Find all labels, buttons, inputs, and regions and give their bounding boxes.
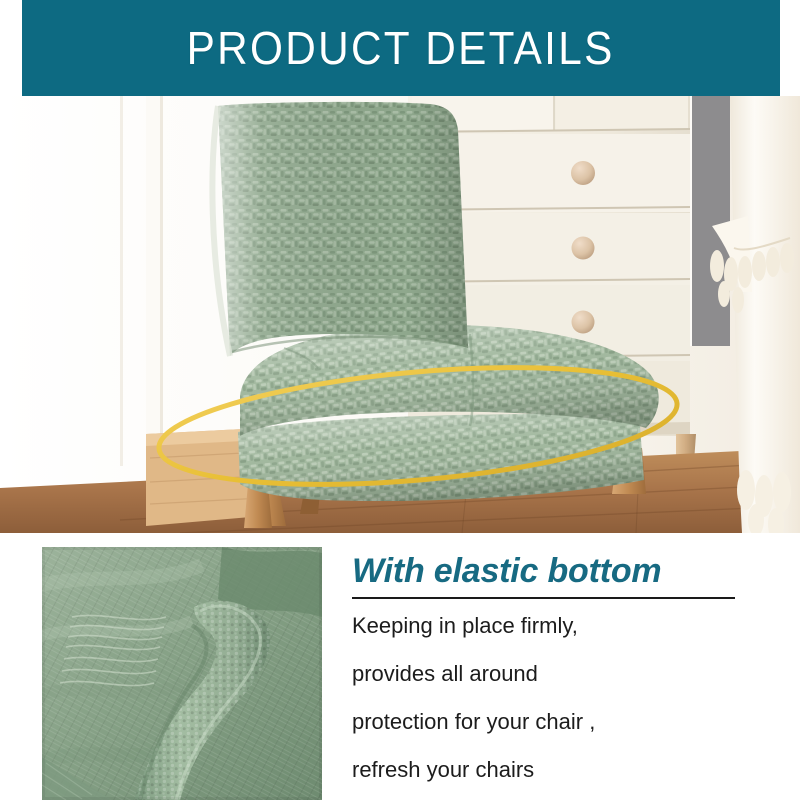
elastic-band-detail-photo (42, 547, 322, 800)
product-details-banner: PRODUCT DETAILS (22, 0, 780, 96)
product-details-page: PRODUCT DETAILS (0, 0, 800, 800)
hero-photo-illustration (0, 96, 800, 533)
detail-photo-illustration (42, 547, 322, 800)
info-body-line: protection for your chair , (352, 711, 772, 733)
info-body-line: provides all around (352, 663, 772, 685)
hero-product-photo (0, 96, 800, 533)
info-body: Keeping in place firmly, provides all ar… (352, 615, 772, 781)
heading-underline (352, 597, 735, 599)
info-body-line: refresh your chairs (352, 759, 772, 781)
elastic-bottom-info-block: With elastic bottom Keeping in place fir… (352, 552, 772, 781)
info-body-line: Keeping in place firmly, (352, 615, 772, 637)
page-title: PRODUCT DETAILS (187, 25, 615, 71)
info-heading: With elastic bottom (352, 552, 772, 591)
